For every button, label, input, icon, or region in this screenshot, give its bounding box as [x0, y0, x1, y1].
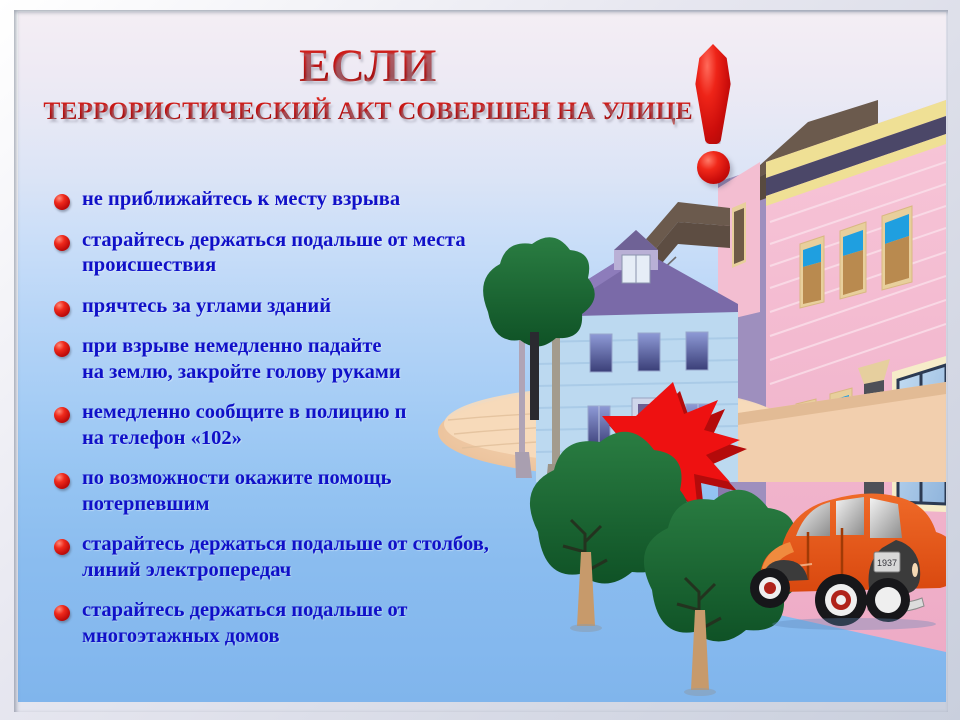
poster-root: 1937 — [0, 0, 960, 720]
frame-bevel — [14, 10, 948, 712]
